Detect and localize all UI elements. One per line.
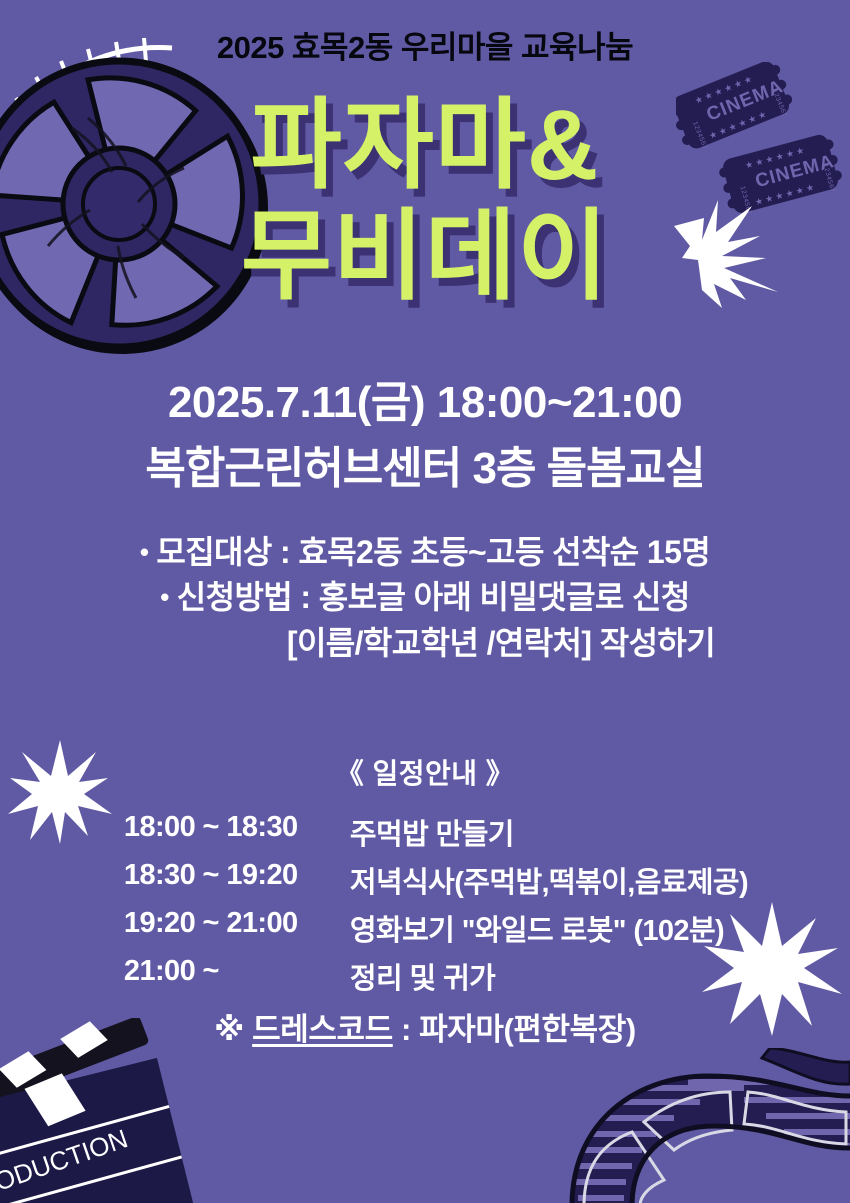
schedule-time: 19:20 ~ 21:00 — [102, 904, 332, 952]
table-row: 18:30 ~ 19:20 저녁식사(주먹밥,떡볶이,음료제공) — [102, 856, 748, 904]
bullet-dot-icon: • — [160, 579, 169, 616]
event-datetime: 2025.7.11(금) 18:00~21:00 — [0, 366, 850, 430]
title-line-1: 파자마& — [0, 96, 850, 193]
list-item-label: 신청방법 : 홍보글 아래 비밀댓글로 신청 — [177, 579, 690, 615]
event-poster: CINEMA ★ ★ ★ ★ ★ ★ ★ ★ ★ ★ ★ ★ 1234567 1… — [0, 0, 850, 1203]
table-row: 21:00 ~ 정리 및 귀가 — [102, 952, 748, 1000]
table-row: 18:00 ~ 18:30 주먹밥 만들기 — [102, 808, 748, 856]
schedule-time: 18:30 ~ 19:20 — [102, 856, 332, 904]
dresscode-separator: : — [401, 1012, 411, 1047]
list-item: •신청방법 : 홍보글 아래 비밀댓글로 신청 — [0, 575, 850, 620]
schedule-table: 18:00 ~ 18:30 주먹밥 만들기 18:30 ~ 19:20 저녁식사… — [102, 808, 748, 1000]
reference-mark-icon: ※ — [214, 1012, 244, 1047]
schedule-time: 21:00 ~ — [102, 952, 332, 1000]
poster-title: 파자마& 무비데이 — [0, 96, 850, 304]
dresscode-value: 파자마(편한복장) — [419, 1012, 636, 1047]
poster-content: 2025 효목2동 우리마을 교육나눔 파자마& 무비데이 2025.7.11(… — [0, 0, 850, 1203]
schedule-activity: 주먹밥 만들기 — [332, 808, 748, 856]
poster-kicker: 2025 효목2동 우리마을 교육나눔 — [0, 22, 850, 67]
schedule-activity: 저녁식사(주먹밥,떡볶이,음료제공) — [332, 856, 748, 904]
list-item: •모집대상 : 효목2동 초등~고등 선착순 15명 — [0, 530, 850, 575]
schedule-activity: 정리 및 귀가 — [332, 952, 748, 1000]
title-line-2: 무비데이 — [0, 207, 850, 304]
bullet-dot-icon: • — [140, 534, 149, 571]
schedule-heading: 《 일정안내 》 — [0, 752, 850, 792]
registration-format-note: [이름/학교학년 /연락처] 작성하기 — [0, 621, 850, 666]
schedule-activity: 영화보기 "와일드 로봇" (102분) — [332, 904, 748, 952]
dresscode-label: 드레스코드 — [252, 1012, 393, 1047]
dresscode-note: ※ 드레스코드 : 파자마(편한복장) — [0, 1004, 850, 1049]
event-location: 복합근린허브센터 3층 돌봄교실 — [0, 432, 850, 496]
table-row: 19:20 ~ 21:00 영화보기 "와일드 로봇" (102분) — [102, 904, 748, 952]
schedule-time: 18:00 ~ 18:30 — [102, 808, 332, 856]
registration-details: •모집대상 : 효목2동 초등~고등 선착순 15명 •신청방법 : 홍보글 아… — [0, 530, 850, 666]
list-item-label: 모집대상 : 효목2동 초등~고등 선착순 15명 — [156, 534, 710, 570]
schedule-section: 《 일정안내 》 18:00 ~ 18:30 주먹밥 만들기 18:30 ~ 1… — [0, 752, 850, 1000]
